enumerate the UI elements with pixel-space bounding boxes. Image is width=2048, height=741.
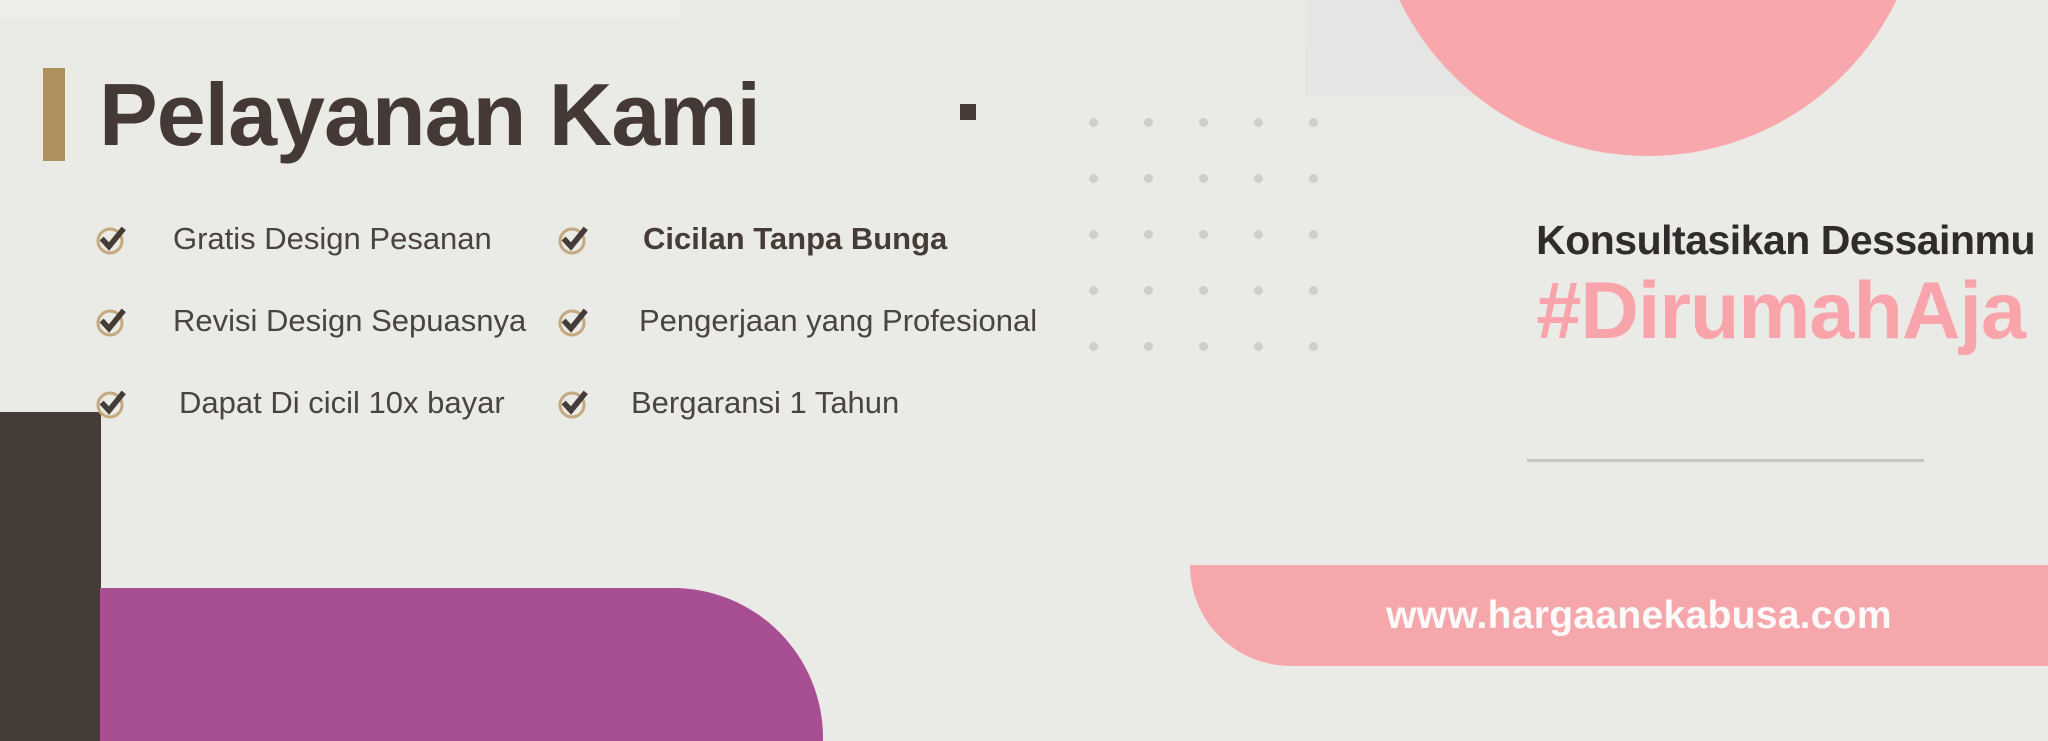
promo-hashtag: #DirumahAja [1000,269,2025,354]
page-title: Pelayanan Kami [43,68,760,161]
list-item: Dapat Di cicil 10x bayar [95,380,526,426]
check-circle-icon [95,386,129,420]
page-title-text: Pelayanan Kami [99,71,760,159]
purple-block-decoration [100,588,823,741]
dot [1309,174,1318,183]
list-item-label: Bergaransi 1 Tahun [631,385,899,421]
dot [1144,174,1153,183]
list-item-label: Revisi Design Sepuasnya [173,303,526,339]
list-item-label: Dapat Di cicil 10x bayar [179,385,505,421]
dot [1309,118,1318,127]
list-item: Cicilan Tanpa Bunga [557,216,1037,262]
promo-underline [1527,459,1924,462]
background-band-top-mid [680,0,1320,50]
list-item-label: Gratis Design Pesanan [173,221,492,257]
list-item: Gratis Design Pesanan [95,216,526,262]
list-item-label: Cicilan Tanpa Bunga [643,221,947,257]
dark-block-decoration [0,412,101,741]
decorative-square [960,104,976,120]
list-item: Bergaransi 1 Tahun [557,380,1037,426]
list-item-label: Pengerjaan yang Profesional [639,303,1037,339]
promo-section: Konsultasikan Dessainmu #DirumahAja [1000,218,2035,354]
features-right-column: Cicilan Tanpa Bunga Pengerjaan yang Prof… [557,216,1037,462]
list-item: Pengerjaan yang Profesional [557,298,1037,344]
check-circle-icon [557,304,591,338]
dot [1199,174,1208,183]
check-circle-icon [95,222,129,256]
dot [1199,118,1208,127]
promo-headline: Konsultasikan Dessainmu [1000,218,2035,263]
check-circle-icon [557,386,591,420]
list-item: Revisi Design Sepuasnya [95,298,526,344]
website-url-text: www.hargaanekabusa.com [1346,594,1892,638]
check-circle-icon [557,222,591,256]
dot [1144,118,1153,127]
dot [1089,174,1098,183]
dot [1254,118,1263,127]
dot [1089,118,1098,127]
check-circle-icon [95,304,129,338]
title-accent-bar [43,68,65,161]
website-url-bar[interactable]: www.hargaanekabusa.com [1190,565,2048,666]
pink-circle-decoration [1372,0,1924,156]
dot [1254,174,1263,183]
features-left-column: Gratis Design Pesanan Revisi Design Sepu… [95,216,526,462]
